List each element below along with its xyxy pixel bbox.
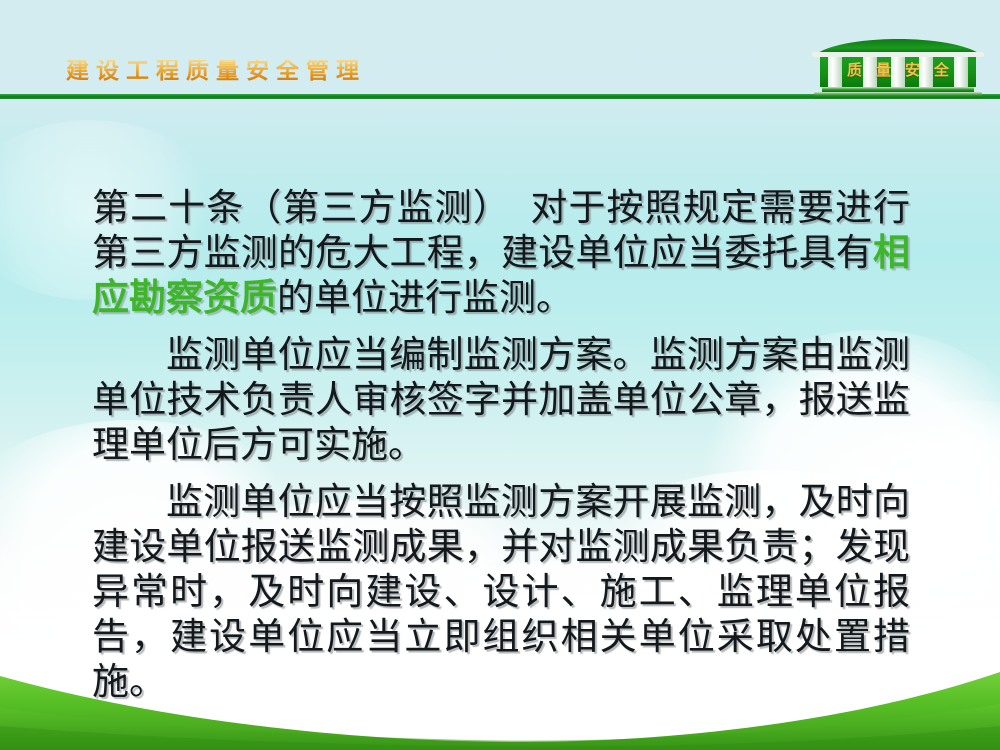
page-title: 建设工程质量安全管理 <box>66 60 366 83</box>
quality-safety-temple-logo: 质量安全 <box>806 32 990 100</box>
paragraph: 监测单位应当按照监测方案开展监测，及时向建设单位报送监测成果，并对监测成果负责；… <box>92 480 910 705</box>
slide-body: 第二十条（第三方监测） 对于按照规定需要进行第三方监测的危大工程，建设单位应当委… <box>92 186 910 705</box>
body-text-run: 第二十条（第三方监测） <box>92 188 492 229</box>
body-text-run: 的单位进行监测。 <box>277 278 573 319</box>
paragraph: 第二十条（第三方监测） 对于按照规定需要进行第三方监测的危大工程，建设单位应当委… <box>92 186 910 321</box>
paragraph: 监测单位应当编制监测方案。监测方案由监测单位技术负责人审核签字并加盖单位公章，报… <box>92 333 910 468</box>
body-text-run: 监测单位应当按照监测方案开展监测，及时向建设单位报送监测成果，并对监测成果负责；… <box>92 482 910 703</box>
body-text-run <box>492 188 530 229</box>
presentation-slide: 建设工程质量安全管理 <box>0 0 1000 750</box>
body-text-run: 监测单位应当编制监测方案。监测方案由监测单位技术负责人审核签字并加盖单位公章，报… <box>92 335 910 466</box>
slide-header: 建设工程质量安全管理 <box>0 0 1000 100</box>
